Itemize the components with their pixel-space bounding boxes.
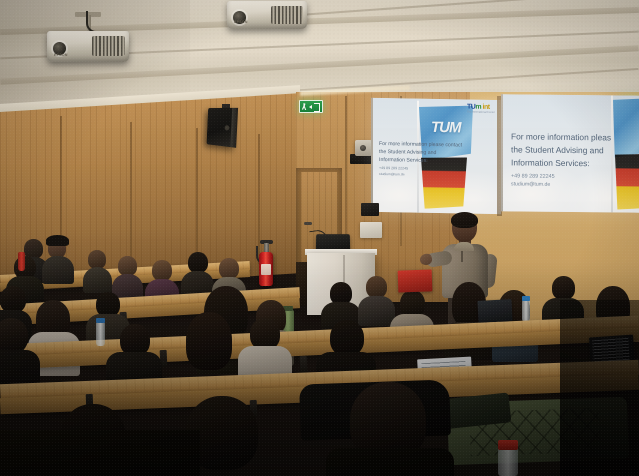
red-laptop[interactable] [398,269,433,292]
wall-speaker [207,108,239,148]
bottle-cap-red [498,440,518,450]
slide-right-line1: For more information pleas [511,130,611,144]
person-body [358,296,395,326]
red-bottle [18,252,25,271]
foreground-shoulder [0,430,200,476]
person-head [219,258,239,279]
person-head [400,290,425,317]
running-man-icon [302,103,307,110]
bottle-cap [522,296,530,301]
person-head [0,318,28,354]
bench-bracket [300,356,308,373]
water-bottle [522,300,530,322]
slide-left-line3: Information Services: [379,157,462,166]
person-head [0,286,26,313]
water-bottle-red-cap [498,448,518,476]
projection-screen-right: For more information pleas the Student A… [501,94,639,212]
person-head [366,276,387,298]
lecture-hall-photo: EPSON EPSON [0,0,639,476]
projector-brand-label: EPSON [54,53,68,57]
presenter-glasses [453,225,475,231]
water-bottle [96,322,105,346]
projector-body: EPSON [47,31,129,62]
projector-left: EPSON [47,31,129,62]
presenter-collar [454,242,474,251]
exit-sign [299,100,323,113]
door-handle[interactable] [304,222,312,225]
person-head [552,276,575,300]
extinguisher-label [261,264,271,275]
person-head [118,256,137,276]
speaker-driver [225,125,230,130]
slide-right-line2: the Student Advising and [511,143,611,157]
wall-seam [258,134,260,264]
person-body [83,267,112,293]
door-icon [314,103,320,112]
tum-int-logo: TUm int The International Center [467,104,495,114]
wall-seam [130,122,132,272]
slide-left-text: For more information please contact the … [379,141,462,178]
projector-brand-label: EPSON [234,20,248,24]
wall-mounted-box [361,203,379,216]
projector-body: EPSON [227,1,307,29]
german-flag [615,153,639,209]
projection-screen-left: TUM TUm int The International Center For… [371,98,501,214]
tum-flag-blue [613,97,639,157]
person-head [188,252,208,273]
bottle-cap [96,318,105,323]
slide-right-line3: Information Services: [511,156,611,170]
person-hair-long [186,312,232,370]
foreground-person-right-edge [560,300,639,476]
camera-lens-icon [360,145,366,151]
open-laptop[interactable] [477,299,512,323]
projector-right: EPSON [227,1,307,29]
logo-subtitle: The International Center [467,111,495,114]
av-control-panel[interactable] [360,222,382,238]
flag-tum-label: TUM [431,119,461,137]
slide-right-text: For more information pleas the Student A… [511,130,611,190]
person-head [330,320,364,356]
projector-vent [92,36,125,56]
arrow-right-icon [309,105,312,109]
person-head [152,260,172,281]
slide-right-email: studium@tum.de [511,181,611,190]
person-body [326,448,454,476]
projector-vent [271,6,303,24]
flag-pole [611,95,613,212]
projector-cable [86,11,104,33]
person-body [42,256,74,284]
person-cap [46,235,69,246]
wall-seam [196,128,198,268]
